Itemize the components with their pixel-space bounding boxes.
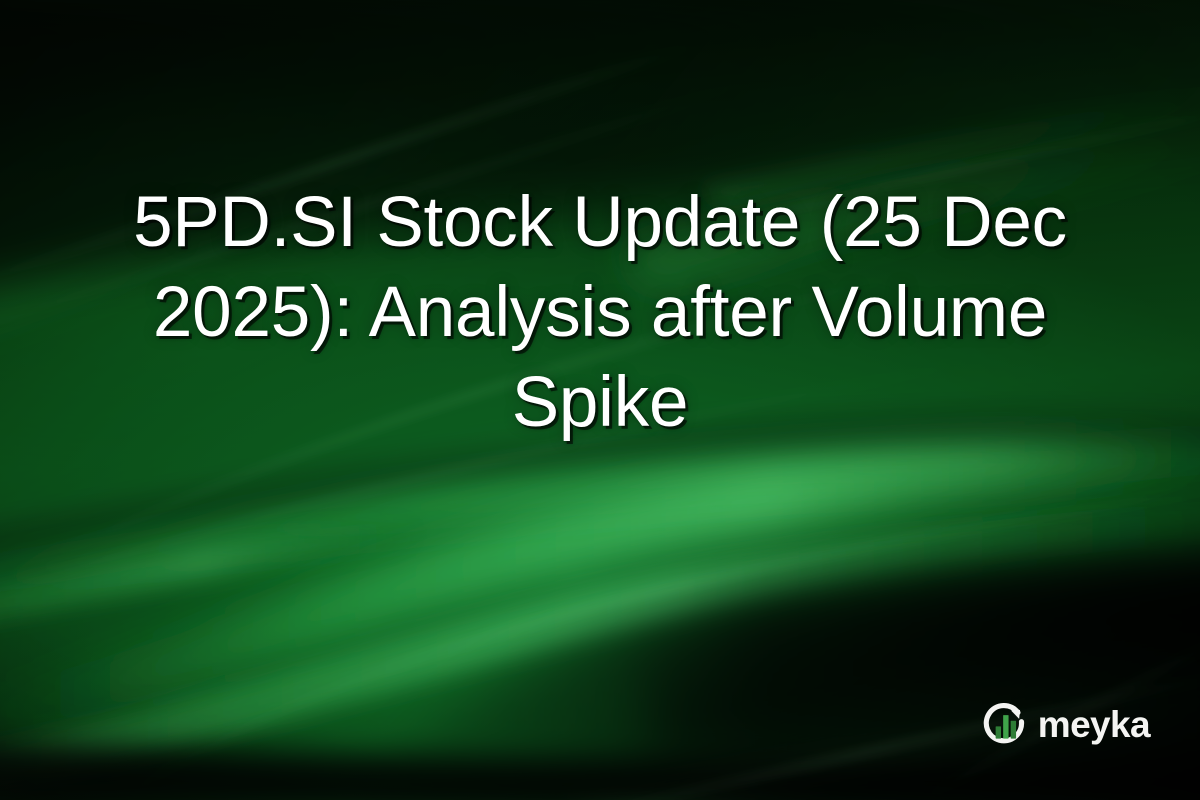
headline-line-3: Spike (56, 358, 1144, 448)
meyka-logo[interactable]: meyka (982, 701, 1150, 748)
logo-bar-right (1010, 721, 1015, 739)
meyka-circular-bar-chart-logo-icon (982, 701, 1029, 748)
headline-line-2: 2025): Analysis after Volume (56, 268, 1144, 358)
meyka-wordmark: meyka (1038, 706, 1150, 743)
headline-line-1: 5PD.SI Stock Update (25 Dec (56, 178, 1144, 268)
logo-bar-middle (1003, 715, 1008, 739)
logo-bar-left (995, 726, 1000, 738)
share-card: 5PD.SI Stock Update (25 Dec 2025): Analy… (0, 0, 1200, 800)
headline: 5PD.SI Stock Update (25 Dec 2025): Analy… (0, 178, 1200, 448)
